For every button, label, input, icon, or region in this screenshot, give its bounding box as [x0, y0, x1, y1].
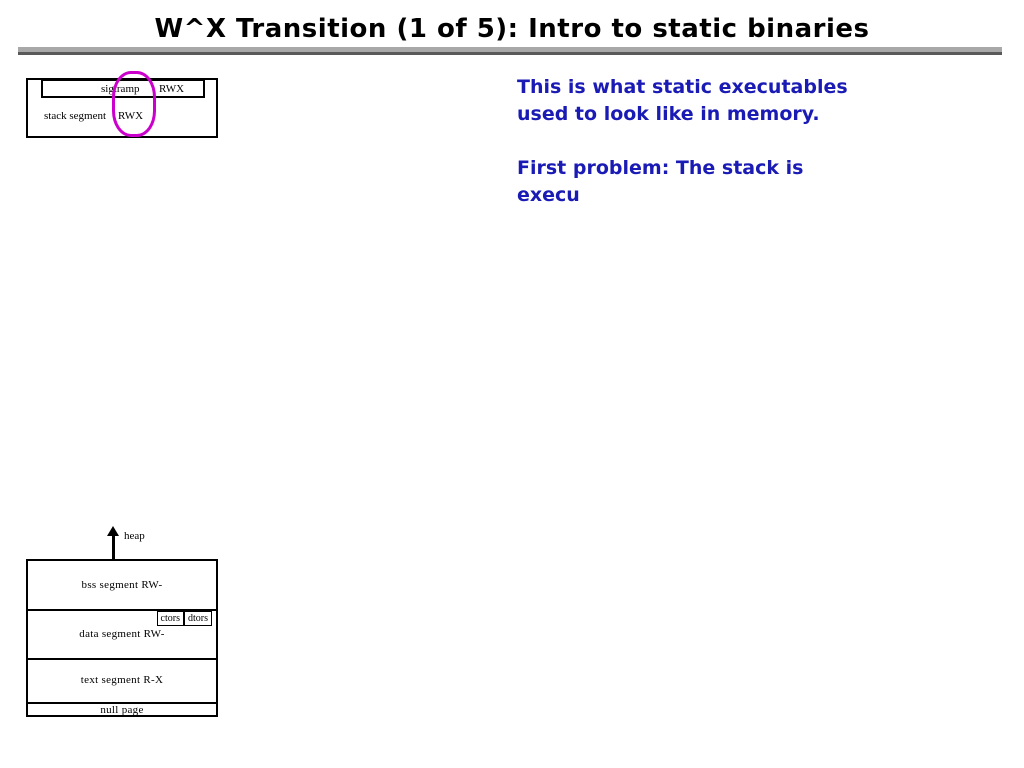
- sigtramp-label: sigtramp: [101, 83, 140, 95]
- text-segment-label: text segment R-X: [81, 674, 163, 686]
- body-line: This is what static executables: [517, 74, 957, 101]
- stack-segment-permissions: RWX: [118, 110, 143, 122]
- data-sections-group: ctors dtors: [157, 611, 212, 626]
- bss-segment-label: bss segment RW-: [82, 579, 163, 591]
- program-image-memory-map: bss segment RW- data segment RW- ctors d…: [26, 559, 218, 717]
- body-paragraph-2: First problem: The stack is execu: [517, 155, 957, 209]
- text-segment-row: text segment R-X: [28, 658, 216, 702]
- slide-body-text: This is what static executables used to …: [517, 74, 957, 209]
- sigtramp-permissions: RWX: [159, 83, 184, 95]
- null-page-label: null page: [100, 704, 143, 716]
- page-title: W^X Transition (1 of 5): Intro to static…: [0, 14, 1024, 44]
- null-page-row: null page: [28, 702, 216, 717]
- body-line: First problem: The stack is: [517, 155, 957, 182]
- dtors-box: dtors: [184, 611, 212, 626]
- ctors-box: ctors: [157, 611, 184, 626]
- stack-segment-label: stack segment: [44, 110, 106, 122]
- body-paragraph-1: This is what static executables used to …: [517, 74, 957, 128]
- stack-memory-map: sigtramp RWX stack segment RWX: [26, 78, 218, 138]
- title-divider: [18, 47, 1002, 55]
- stack-segment-row: stack segment RWX: [28, 110, 216, 130]
- heap-label: heap: [124, 530, 145, 542]
- body-line: used to look like in memory.: [517, 101, 957, 128]
- bss-segment-row: bss segment RW-: [28, 561, 216, 609]
- data-segment-row: data segment RW- ctors dtors: [28, 609, 216, 658]
- sigtramp-row: sigtramp RWX: [41, 79, 205, 98]
- data-segment-label: data segment RW-: [79, 628, 164, 640]
- body-line: execu: [517, 182, 957, 209]
